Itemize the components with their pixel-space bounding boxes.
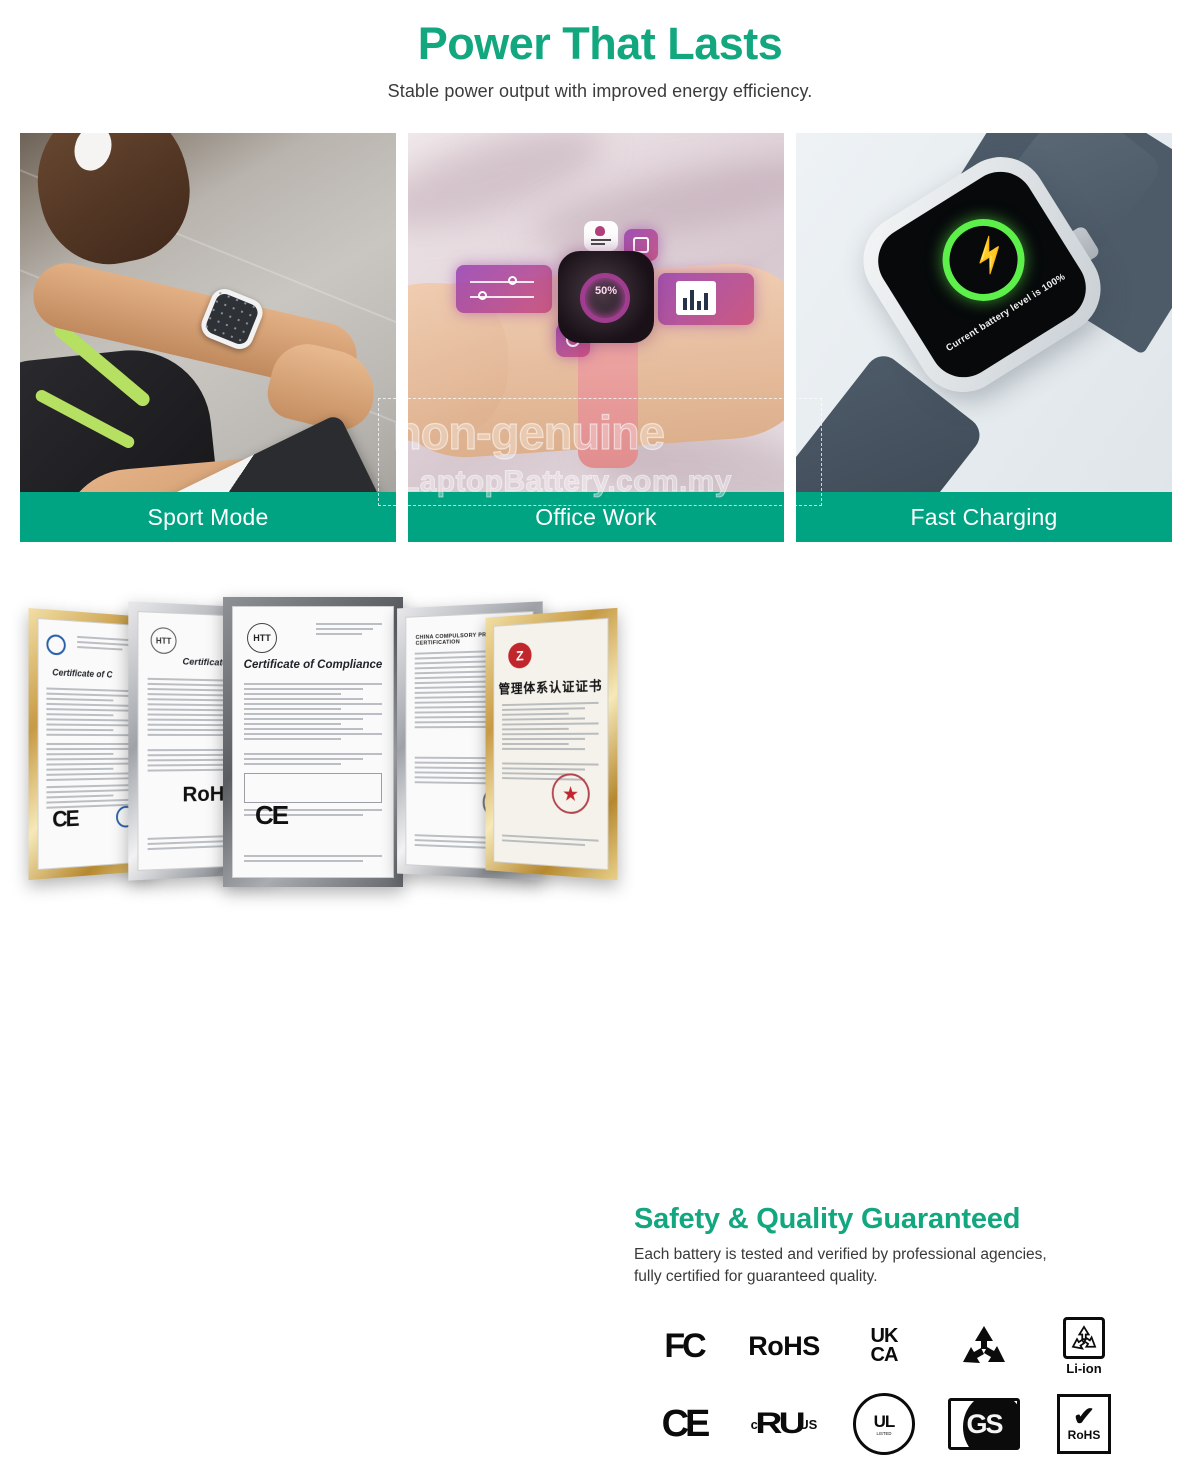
certificate-title: 管理体系认证证书: [494, 675, 607, 698]
li-ion-badge-label: Li-ion: [1063, 1361, 1105, 1376]
fast-charging-photo: ⚡ Current battery level is 100%: [796, 133, 1172, 492]
badge-row-1: FC RoHS UK CA: [634, 1307, 1134, 1385]
page-subtitle: Stable power output with improved energy…: [0, 81, 1200, 102]
rohs-badge-label: RoHS: [748, 1331, 820, 1362]
chart-tile-icon: [658, 273, 754, 325]
safety-title: Safety & Quality Guaranteed: [634, 1203, 1190, 1236]
recycle-badge: [934, 1310, 1034, 1382]
rohs-badge: RoHS: [734, 1310, 834, 1382]
gs-badge-label: GS: [966, 1409, 1001, 1440]
ul-listed-badge: UL LISTED: [834, 1388, 934, 1460]
safety-body: Each battery is tested and verified by p…: [634, 1244, 1190, 1289]
safety-body-line-1: Each battery is tested and verified by p…: [634, 1246, 1047, 1263]
sport-mode-photo: [20, 133, 396, 492]
c-ul-us-mid-label: RU: [755, 1407, 802, 1441]
page-title: Power That Lasts: [0, 18, 1200, 70]
page-header: Power That Lasts Stable power output wit…: [0, 0, 1200, 102]
rohs-check-badge: ✔ RoHS: [1034, 1388, 1134, 1460]
settings-tile-icon: [456, 265, 552, 313]
feature-card-caption: Sport Mode: [20, 492, 396, 542]
recycle-icon: [960, 1324, 1008, 1368]
safety-body-line-2: fully certified for guaranteed quality.: [634, 1268, 878, 1285]
certificate-mark: ★: [562, 781, 579, 807]
feature-card-caption: Office Work: [408, 492, 784, 542]
ul-badge-sub: LISTED: [856, 1432, 912, 1437]
c-ul-us-badge: c RU US: [734, 1388, 834, 1460]
fcc-badge: FC: [634, 1310, 734, 1382]
certificate-item[interactable]: Z 管理体系认证证书 ★: [486, 608, 618, 880]
smartwatch-screen: 50%: [558, 251, 654, 343]
battery-percent-label: 50%: [558, 285, 654, 297]
certificate-title: Certificate of C: [52, 667, 112, 680]
ce-badge-label: CE: [662, 1403, 707, 1446]
certificate-mark: CE: [52, 806, 77, 834]
feature-card-caption: Fast Charging: [796, 492, 1172, 542]
fcc-badge-label: FC: [664, 1327, 703, 1366]
office-work-photo: 50%: [408, 133, 784, 492]
certificate-title: Certificate of Compliance: [233, 659, 393, 671]
ukca-badge: UK CA: [834, 1310, 934, 1382]
feature-card-fast-charging[interactable]: ⚡ Current battery level is 100% Fast Cha…: [796, 133, 1172, 542]
feature-card-sport-mode[interactable]: Sport Mode: [20, 133, 396, 542]
ukca-label-bottom: CA: [871, 1344, 898, 1366]
feature-card-list: Sport Mode: [20, 133, 1180, 542]
safety-text-block: Safety & Quality Guaranteed Each battery…: [634, 1203, 1190, 1289]
cn-z-logo-icon: Z: [508, 642, 531, 669]
certificate-mark: CE: [255, 800, 287, 831]
recycle-icon: [1070, 1325, 1098, 1351]
li-ion-recycle-box: [1063, 1317, 1105, 1359]
feature-card-office-work[interactable]: 50% Office Work: [408, 133, 784, 542]
gs-badge: GS: [934, 1388, 1034, 1460]
li-ion-badge: Li-ion: [1034, 1310, 1134, 1382]
certificate-item[interactable]: HTT Certificate of Compliance CE: [223, 597, 403, 887]
htt-logo-icon: HTT: [151, 627, 177, 654]
ul-badge-label: UL: [874, 1412, 895, 1432]
certification-badges: FC RoHS UK CA: [634, 1307, 1134, 1463]
certificates-section: Certificate of C CE HTT Certificate of C…: [0, 585, 1200, 900]
certificate-gallery: Certificate of C CE HTT Certificate of C…: [8, 595, 620, 895]
contact-tile-icon: [584, 221, 618, 251]
htt-logo-icon: HTT: [247, 623, 277, 653]
ce-badge: CE: [634, 1388, 734, 1460]
checkmark-icon: ✔: [1073, 1406, 1095, 1427]
rohs-check-label: RoHS: [1068, 1428, 1101, 1442]
badge-row-2: CE c RU US UL LISTED GS: [634, 1385, 1134, 1463]
red-star-seal-icon: ★: [552, 773, 590, 815]
